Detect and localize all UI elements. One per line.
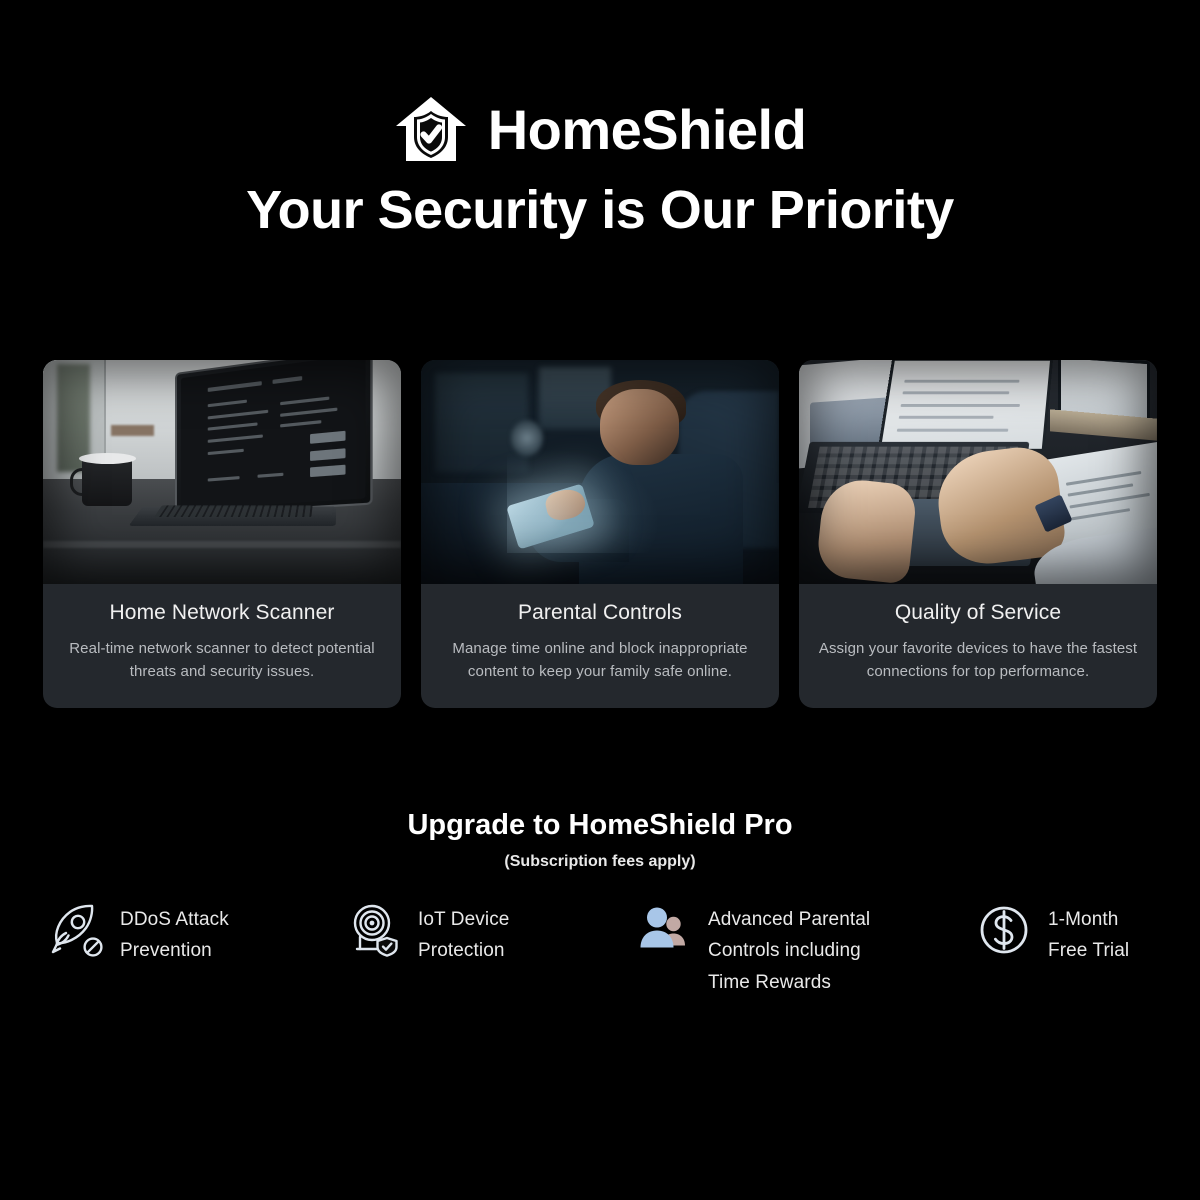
pro-feature-list: DDoS Attack Prevention IoT Device Protec… bbox=[48, 900, 1168, 998]
pro-feature-advanced-parental-controls: Advanced Parental Controls including Tim… bbox=[636, 900, 976, 998]
card-description: Manage time online and block inappropria… bbox=[439, 637, 761, 684]
pro-feature-one-month-free-trial: 1-Month Free Trial bbox=[976, 900, 1168, 967]
homeshield-promo-page: HomeShield Your Security is Our Priority bbox=[0, 0, 1200, 1200]
pro-feature-label: IoT Device Protection bbox=[418, 900, 509, 967]
card-description: Assign your favorite devices to have the… bbox=[817, 637, 1139, 684]
two-people-icon bbox=[636, 902, 692, 958]
pro-feature-label: DDoS Attack Prevention bbox=[120, 900, 229, 967]
card-photo-hands-typing bbox=[799, 360, 1157, 584]
house-shield-check-icon bbox=[394, 95, 468, 165]
pro-feature-iot-device-protection: IoT Device Protection bbox=[346, 900, 636, 967]
feature-card-home-network-scanner[interactable]: Home Network Scanner Real-time network s… bbox=[43, 360, 401, 708]
upgrade-section: Upgrade to HomeShield Pro (Subscription … bbox=[0, 808, 1200, 871]
card-title: Quality of Service bbox=[817, 600, 1139, 625]
feature-card-quality-of-service[interactable]: Quality of Service Assign your favorite … bbox=[799, 360, 1157, 708]
upgrade-subtitle: (Subscription fees apply) bbox=[0, 853, 1200, 871]
card-body: Parental Controls Manage time online and… bbox=[421, 584, 779, 708]
pro-feature-label: Advanced Parental Controls including Tim… bbox=[708, 900, 870, 998]
feature-card-parental-controls[interactable]: Parental Controls Manage time online and… bbox=[421, 360, 779, 708]
feature-card-list: Home Network Scanner Real-time network s… bbox=[43, 360, 1157, 708]
card-photo-laptop-desk bbox=[43, 360, 401, 584]
page-header: HomeShield Your Security is Our Priority bbox=[0, 92, 1200, 239]
card-title: Parental Controls bbox=[439, 600, 761, 625]
brand-logo: HomeShield bbox=[0, 92, 1200, 168]
pro-feature-label: 1-Month Free Trial bbox=[1048, 900, 1129, 967]
card-description: Real-time network scanner to detect pote… bbox=[61, 637, 383, 684]
card-body: Quality of Service Assign your favorite … bbox=[799, 584, 1157, 708]
rocket-blocked-icon bbox=[48, 902, 104, 958]
brand-name: HomeShield bbox=[488, 102, 807, 158]
upgrade-title: Upgrade to HomeShield Pro bbox=[0, 808, 1200, 843]
pro-feature-ddos-attack-prevention: DDoS Attack Prevention bbox=[48, 900, 346, 967]
camera-shield-icon bbox=[346, 902, 402, 958]
dollar-circle-icon bbox=[976, 902, 1032, 958]
page-title: Your Security is Our Priority bbox=[0, 182, 1200, 239]
card-title: Home Network Scanner bbox=[61, 600, 383, 625]
card-photo-child-tablet bbox=[421, 360, 779, 584]
card-body: Home Network Scanner Real-time network s… bbox=[43, 584, 401, 708]
